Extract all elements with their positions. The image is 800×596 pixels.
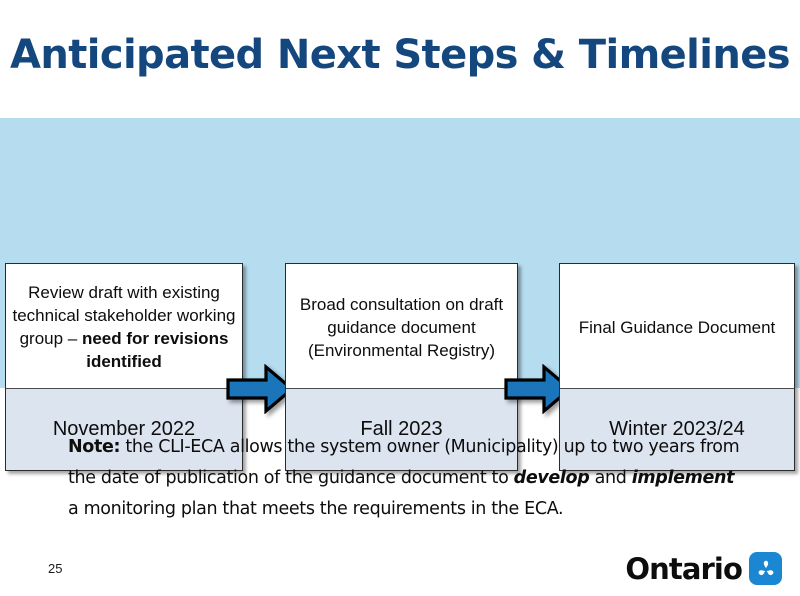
timeline-band: Review draft with existing technical sta… xyxy=(0,118,800,388)
stage-1-description: Review draft with existing technical sta… xyxy=(6,264,242,388)
note-emphasis-implement: implement xyxy=(632,468,734,488)
note-emphasis-develop: develop xyxy=(514,468,590,488)
page-number: 25 xyxy=(48,561,62,576)
note-paragraph: Note: the CLI-ECA allows the system owne… xyxy=(68,432,740,525)
ontario-wordmark: Ontario xyxy=(625,554,742,584)
stage-2-description: Broad consultation on draft guidance doc… xyxy=(286,264,517,388)
stage-1-description-emphasis: need for revisions identified xyxy=(82,329,228,371)
arrow-right-icon-1 xyxy=(226,364,294,414)
stage-3-description-text: Final Guidance Document xyxy=(579,318,776,337)
ontario-logo: Ontario xyxy=(625,552,782,585)
stage-2-description-text: Broad consultation on draft guidance doc… xyxy=(300,295,503,360)
stage-3-description: Final Guidance Document xyxy=(560,264,794,388)
note-text-part-2: and xyxy=(589,468,631,488)
note-text-part-3: a monitoring plan that meets the require… xyxy=(68,499,563,519)
page-title: Anticipated Next Steps & Timelines xyxy=(0,32,800,78)
trillium-icon xyxy=(749,552,782,585)
note-label: Note: xyxy=(68,437,120,457)
